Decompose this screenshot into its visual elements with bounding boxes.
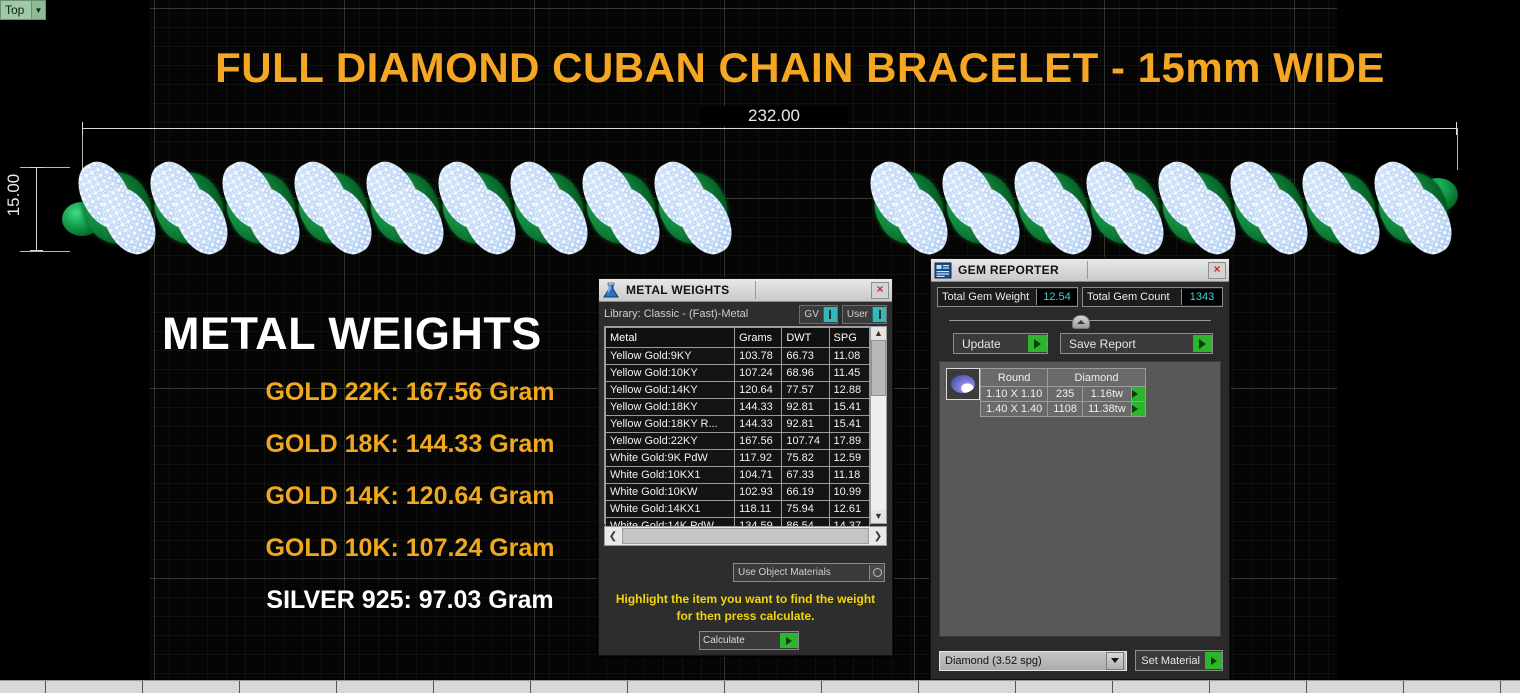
app-root: Top ▼ FULL DIAMOND CUBAN CHAIN BRACELET … (0, 0, 1520, 692)
dimension-width-label: 15.00 (4, 165, 24, 225)
table-cell: 11.18 (829, 467, 869, 484)
chain-link (1088, 158, 1162, 258)
table-cell: 10.99 (829, 484, 869, 501)
ruler-tick (336, 681, 337, 693)
table-row[interactable]: Yellow Gold:18KY R...144.3392.8115.41 (606, 416, 870, 433)
panel-collapse-handle[interactable] (949, 315, 1211, 327)
gem-reporter-title: GEM REPORTER (954, 263, 1059, 277)
chain-link (368, 158, 442, 258)
toggle-gv-indicator (823, 307, 837, 322)
table-row[interactable]: Yellow Gold:9KY103.7866.7311.08 (606, 348, 870, 365)
save-report-button[interactable]: Save Report (1060, 333, 1213, 354)
ruler-tick (1306, 681, 1307, 693)
table-body: Yellow Gold:9KY103.7866.7311.08Yellow Go… (606, 348, 870, 535)
table-cell: 67.33 (782, 467, 829, 484)
ruler-tick (724, 681, 725, 693)
bottom-ruler (0, 680, 1520, 693)
table-row[interactable]: Yellow Gold:22KY167.56107.7417.89 (606, 433, 870, 450)
scroll-up-icon[interactable]: ▲ (871, 327, 886, 340)
ruler-tick (433, 681, 434, 693)
update-button-label: Update (954, 337, 1028, 351)
ruler-tick (45, 681, 46, 693)
table-row[interactable]: Yellow Gold:18KY144.3392.8115.41 (606, 399, 870, 416)
column-header[interactable]: Grams (735, 328, 782, 348)
table-cell: White Gold:10KX1 (606, 467, 735, 484)
view-selector-label: Top (1, 3, 31, 17)
metal-table-wrapper: MetalGramsDWTSPG Yellow Gold:9KY103.7866… (604, 326, 887, 524)
titlebar-divider (1087, 261, 1088, 279)
view-selector[interactable]: Top ▼ (0, 0, 46, 20)
play-arrow-icon[interactable] (1131, 402, 1145, 417)
toggle-gv-label: GV (800, 309, 822, 320)
column-header[interactable]: Round (981, 369, 1048, 387)
update-button[interactable]: Update (953, 333, 1048, 354)
ruler-tick (1500, 681, 1501, 693)
table-cell: 107.74 (782, 433, 829, 450)
table-cell: 120.64 (735, 382, 782, 399)
table-row[interactable]: 1.10 X 1.102351.16tw (981, 387, 1146, 402)
table-cell: Yellow Gold:18KY R... (606, 416, 735, 433)
scrollbar-thumb[interactable] (871, 340, 886, 396)
ruler-tick (1015, 681, 1016, 693)
ruler-tick (530, 681, 531, 693)
toggle-user[interactable]: User (842, 305, 887, 324)
ruler-tick (239, 681, 240, 693)
chevron-down-icon[interactable] (1106, 652, 1124, 670)
table-cell: Yellow Gold:22KY (606, 433, 735, 450)
table-cell: 107.24 (735, 365, 782, 382)
metal-weights-titlebar[interactable]: METAL WEIGHTS × (599, 279, 892, 302)
library-row: Library: Classic - (Fast)-Metal GV User (599, 302, 892, 326)
gem-weight-cell: 11.38tw (1082, 402, 1131, 417)
table-row[interactable]: White Gold:10KW102.9366.1910.99 (606, 484, 870, 501)
dimension-line-horizontal (82, 128, 1457, 129)
table-cell: Yellow Gold:10KY (606, 365, 735, 382)
summary-title: METAL WEIGHTS (162, 308, 542, 360)
table-cell: 92.81 (782, 399, 829, 416)
table-cell: 104.71 (735, 467, 782, 484)
toggle-user-indicator (872, 307, 886, 322)
chain-link (512, 158, 586, 258)
gem-footer: Diamond (3.52 spg) Set Material (939, 650, 1223, 671)
metal-weights-window: METAL WEIGHTS × Library: Classic - (Fast… (598, 278, 893, 656)
table-cell: 15.41 (829, 399, 869, 416)
material-select[interactable]: Diamond (3.52 spg) (939, 651, 1127, 671)
total-gem-weight-value: 12.54 (1036, 289, 1077, 305)
calculate-button-label: Calculate (700, 635, 780, 646)
material-select-value: Diamond (3.52 spg) (940, 655, 1106, 667)
toggle-user-label: User (843, 309, 872, 320)
chain-link (944, 158, 1018, 258)
table-cell: White Gold:9K PdW (606, 450, 735, 467)
summary-line: GOLD 14K: 120.64 Gram (245, 482, 575, 511)
table-row[interactable]: Yellow Gold:14KY120.6477.5712.88 (606, 382, 870, 399)
summary-lines: GOLD 22K: 167.56 GramGOLD 18K: 144.33 Gr… (245, 378, 575, 638)
chain-link (1232, 158, 1306, 258)
gem-report-body: RoundDiamond 1.10 X 1.102351.16tw1.40 X … (939, 361, 1221, 637)
ruler-tick (821, 681, 822, 693)
scroll-right-icon[interactable]: ❯ (870, 531, 886, 542)
play-arrow-icon (1028, 335, 1047, 352)
table-row[interactable]: Yellow Gold:10KY107.2468.9611.45 (606, 365, 870, 382)
column-header[interactable]: SPG (829, 328, 869, 348)
table-cell: 66.73 (782, 348, 829, 365)
table-cell: 11.45 (829, 365, 869, 382)
scroll-left-icon[interactable]: ❮ (605, 531, 621, 542)
ruler-tick (1403, 681, 1404, 693)
toggle-gv[interactable]: GV (799, 305, 837, 324)
column-header[interactable]: DWT (782, 328, 829, 348)
chain-link (584, 158, 658, 258)
table-cell: Yellow Gold:18KY (606, 399, 735, 416)
table-row[interactable]: White Gold:10KX1104.7167.3311.18 (606, 467, 870, 484)
chain-link (872, 158, 946, 258)
calculate-hint-line1: Highlight the item you want to find the … (609, 591, 882, 608)
metal-weights-title: METAL WEIGHTS (622, 283, 729, 297)
table-row[interactable]: White Gold:14KX1118.1175.9412.61 (606, 501, 870, 518)
round-gem-icon (951, 375, 975, 393)
radio-icon (869, 565, 884, 580)
table-cell: 12.88 (829, 382, 869, 399)
chain-link (1304, 158, 1378, 258)
page-title: FULL DIAMOND CUBAN CHAIN BRACELET - 15mm… (175, 44, 1425, 92)
save-report-button-label: Save Report (1061, 337, 1193, 351)
chain-link (224, 158, 298, 258)
table-cell: White Gold:10KW (606, 484, 735, 501)
table-cell: 12.61 (829, 501, 869, 518)
dimension-line-vertical (36, 167, 37, 251)
table-cell: 102.93 (735, 484, 782, 501)
gem-size-cell: 1.10 X 1.10 (981, 387, 1048, 402)
summary-line: GOLD 22K: 167.56 Gram (245, 378, 575, 407)
vertical-scrollbar[interactable]: ▲ ▼ (870, 327, 886, 523)
chain-link (296, 158, 370, 258)
table-header-row: RoundDiamond (981, 369, 1146, 387)
close-icon[interactable]: × (871, 282, 889, 299)
calculate-hint: Highlight the item you want to find the … (609, 591, 882, 625)
summary-line: GOLD 10K: 107.24 Gram (245, 534, 575, 563)
table-cell: 92.81 (782, 416, 829, 433)
calculate-button[interactable]: Calculate (699, 631, 799, 650)
table-cell: 77.57 (782, 382, 829, 399)
summary-line: SILVER 925: 97.03 Gram (245, 586, 575, 615)
chain-link (1016, 158, 1090, 258)
dimension-length-label: 232.00 (700, 106, 848, 126)
set-material-label: Set Material (1136, 655, 1205, 667)
horizontal-scrollbar[interactable]: ❮ ❯ (604, 526, 887, 546)
gem-report-icon (932, 260, 954, 280)
close-icon[interactable]: × (1208, 262, 1226, 279)
gem-count-cell: 235 (1048, 387, 1083, 402)
gem-table: RoundDiamond 1.10 X 1.102351.16tw1.40 X … (946, 368, 1146, 417)
use-object-materials-button[interactable]: Use Object Materials (733, 563, 885, 582)
play-arrow-icon (1205, 652, 1222, 669)
use-object-materials-label: Use Object Materials (734, 567, 869, 578)
column-header[interactable]: Diamond (1048, 369, 1145, 387)
gem-size-cell: 1.40 X 1.40 (981, 402, 1048, 417)
table-cell: 144.33 (735, 399, 782, 416)
table-cell: 117.92 (735, 450, 782, 467)
table-cell: 17.89 (829, 433, 869, 450)
gem-weight-cell: 1.16tw (1082, 387, 1131, 402)
ruler-tick (1112, 681, 1113, 693)
table-cell: 15.41 (829, 416, 869, 433)
ruler-tick (142, 681, 143, 693)
chain-link (1376, 158, 1450, 258)
play-arrow-icon (1193, 335, 1212, 352)
table-cell: 68.96 (782, 365, 829, 382)
bracelet-render (62, 158, 1458, 260)
table-row[interactable]: 1.40 X 1.40110811.38tw (981, 402, 1146, 417)
table-header-row: MetalGramsDWTSPG (606, 328, 870, 348)
table-row[interactable]: White Gold:9K PdW117.9275.8212.59 (606, 450, 870, 467)
table-cell: 118.11 (735, 501, 782, 518)
titlebar-divider (755, 281, 756, 299)
ruler-tick (627, 681, 628, 693)
chain-link (1160, 158, 1234, 258)
chevron-up-icon[interactable] (1072, 315, 1090, 329)
chain-link (80, 158, 154, 258)
total-gem-weight-label: Total Gem Weight (938, 291, 1036, 303)
ruler-tick (918, 681, 919, 693)
total-gem-count: Total Gem Count 1343 (1082, 287, 1223, 307)
gem-count-cell: 1108 (1048, 402, 1083, 417)
total-gem-count-value: 1343 (1181, 289, 1222, 305)
table-cell: 11.08 (829, 348, 869, 365)
ruler-tick (1209, 681, 1210, 693)
scroll-down-icon[interactable]: ▼ (871, 510, 886, 523)
table-cell: White Gold:14KX1 (606, 501, 735, 518)
table-cell: 103.78 (735, 348, 782, 365)
library-label: Library: Classic - (Fast)-Metal (604, 308, 795, 320)
table-cell: 66.19 (782, 484, 829, 501)
table-cell: 75.82 (782, 450, 829, 467)
chevron-down-icon: ▼ (31, 1, 45, 19)
total-gem-count-label: Total Gem Count (1083, 291, 1181, 303)
calculate-hint-line2: for then press calculate. (609, 608, 882, 625)
table-body: 1.10 X 1.102351.16tw1.40 X 1.40110811.38… (981, 387, 1146, 417)
table-cell: Yellow Gold:9KY (606, 348, 735, 365)
set-material-button[interactable]: Set Material (1135, 650, 1223, 671)
chain-link (656, 158, 730, 258)
table-cell: 75.94 (782, 501, 829, 518)
gem-actions-row: Update Save Report (931, 329, 1229, 354)
table-cell: 167.56 (735, 433, 782, 450)
chain-link (152, 158, 226, 258)
metal-flask-icon (600, 280, 622, 300)
play-arrow-icon (780, 633, 798, 648)
table-cell: 144.33 (735, 416, 782, 433)
play-arrow-icon[interactable] (1131, 387, 1145, 402)
gem-reporter-window: GEM REPORTER × Total Gem Weight 12.54 To… (930, 258, 1230, 680)
summary-line: GOLD 18K: 144.33 Gram (245, 430, 575, 459)
gem-stats-row: Total Gem Weight 12.54 Total Gem Count 1… (931, 282, 1229, 307)
gem-reporter-titlebar[interactable]: GEM REPORTER × (931, 259, 1229, 282)
table-cell: Yellow Gold:14KY (606, 382, 735, 399)
table-cell: 12.59 (829, 450, 869, 467)
gem-swatch (946, 368, 980, 400)
metal-table[interactable]: MetalGramsDWTSPG Yellow Gold:9KY103.7866… (605, 327, 870, 523)
chain-link (440, 158, 514, 258)
hscrollbar-thumb[interactable] (622, 528, 869, 544)
column-header[interactable]: Metal (606, 328, 735, 348)
total-gem-weight: Total Gem Weight 12.54 (937, 287, 1078, 307)
